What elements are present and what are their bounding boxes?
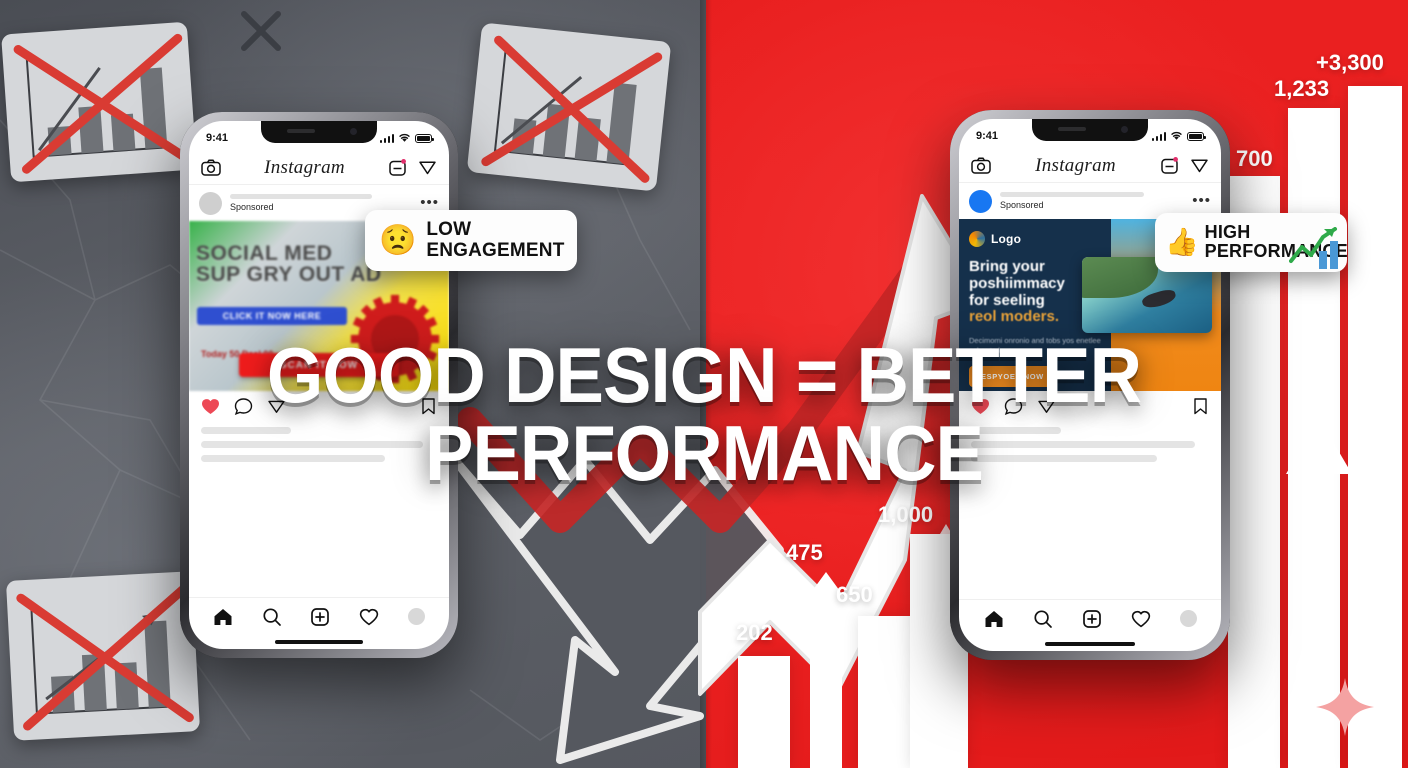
battery-icon: [1187, 132, 1204, 141]
low-engagement-badge: 😟 LOWENGAGEMENT: [365, 210, 577, 271]
reels-icon[interactable]: [1160, 156, 1179, 175]
chart-bar-label: 1,233: [1274, 76, 1329, 102]
battery-icon: [415, 134, 432, 143]
camera-icon[interactable]: [201, 159, 221, 176]
profile-avatar[interactable]: [408, 608, 425, 625]
phone-notch: [1032, 119, 1148, 141]
x-mark-icon: [236, 6, 286, 56]
reels-icon[interactable]: [388, 158, 407, 177]
low-engagement-text: LOWENGAGEMENT: [426, 220, 564, 261]
avatar[interactable]: [969, 190, 992, 213]
wifi-icon: [1170, 131, 1183, 141]
status-time: 9:41: [976, 130, 998, 142]
add-post-icon[interactable]: [1082, 609, 1102, 629]
avatar[interactable]: [199, 192, 222, 215]
chart-bar-label: +3,300: [1316, 50, 1384, 76]
bottom-tab-bar: [959, 599, 1221, 637]
chart-bar-label: 650: [836, 582, 873, 608]
home-icon[interactable]: [213, 607, 233, 627]
chart-bar-label: 475: [786, 540, 823, 566]
thumbs-up-emoji: 👍: [1165, 229, 1199, 256]
camera-icon[interactable]: [971, 157, 991, 174]
brand-logo: Logo: [969, 231, 1101, 247]
sparkle-icon: [1314, 676, 1376, 738]
bottom-tab-bar: [189, 597, 449, 635]
direct-message-icon[interactable]: [418, 158, 437, 177]
activity-heart-icon[interactable]: [1131, 609, 1151, 629]
wifi-icon: [398, 133, 411, 143]
instagram-wordmark: Instagram: [264, 157, 345, 179]
search-icon[interactable]: [262, 607, 282, 627]
chart-bar-label: 700: [1236, 146, 1273, 172]
post-more-button[interactable]: •••: [420, 199, 439, 207]
chart-bar: [738, 656, 790, 768]
page-title: GOOD DESIGN = BETTER PERFORMANCE: [49, 336, 1358, 492]
signal-bars-icon: [380, 134, 395, 143]
profile-avatar[interactable]: [1180, 610, 1197, 627]
instagram-wordmark: Instagram: [1035, 155, 1116, 177]
home-icon[interactable]: [984, 609, 1004, 629]
home-indicator: [189, 635, 449, 649]
thumbnail-canvas: 202 475 650 1,000 700 1,233 +3,300: [0, 0, 1408, 768]
home-indicator: [959, 637, 1221, 651]
high-performance-badge: 👍 HIGHPERFORMANCE: [1155, 213, 1347, 272]
chart-bar: [858, 616, 910, 768]
direct-message-icon[interactable]: [1190, 156, 1209, 175]
growth-chart-icon: [1289, 227, 1341, 271]
status-time: 9:41: [206, 132, 228, 144]
sponsored-label: Sponsored: [1000, 200, 1184, 210]
crossed-out-chart-card: [467, 22, 672, 191]
ad-blue-bar: CLICK IT NOW HERE: [197, 307, 347, 325]
add-post-icon[interactable]: [310, 607, 330, 627]
worried-face-emoji: 😟: [379, 226, 416, 256]
crossed-out-chart-card: [6, 571, 200, 741]
activity-heart-icon[interactable]: [359, 607, 379, 627]
account-name-placeholder: [1000, 192, 1144, 197]
search-icon[interactable]: [1033, 609, 1053, 629]
logo-text: Logo: [991, 232, 1021, 246]
instagram-header: Instagram: [959, 149, 1221, 183]
instagram-header: Instagram: [189, 151, 449, 185]
logo-mark-icon: [969, 231, 985, 247]
crossed-out-chart-card: [1, 22, 197, 183]
post-more-button[interactable]: •••: [1192, 197, 1211, 205]
account-name-placeholder: [230, 194, 372, 199]
phone-notch: [261, 121, 377, 143]
chart-bar-label: 202: [736, 620, 773, 646]
ad-headline: Bring your poshiimmacy for seeling reol …: [969, 259, 1101, 326]
signal-bars-icon: [1152, 132, 1167, 141]
